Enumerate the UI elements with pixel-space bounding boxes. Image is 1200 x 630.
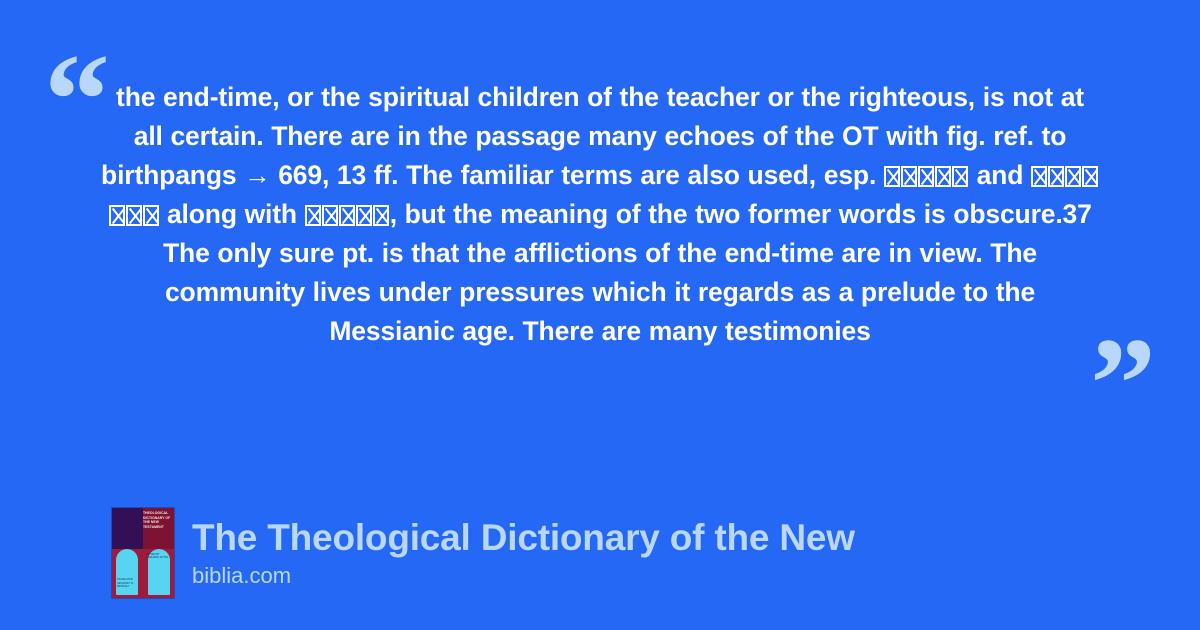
footer: THEOLOGICAL DICTIONARY OF THE NEW TESTAM… [112, 508, 1162, 598]
book-cover-thumbnail: THEOLOGICAL DICTIONARY OF THE NEW TESTAM… [112, 508, 174, 598]
missing-glyph-box [305, 205, 321, 226]
missing-glyph-box [901, 166, 917, 187]
footer-text-group: The Theological Dictionary of the New bi… [192, 516, 855, 590]
cover-title-text: THEOLOGICAL DICTIONARY OF THE NEW TESTAM… [143, 511, 172, 529]
cover-editor-text: EDITED BY GERHARD KITTEL [146, 553, 170, 560]
source-domain: biblia.com [192, 562, 855, 590]
missing-glyph-box [109, 205, 125, 226]
missing-glyph-box [935, 166, 951, 187]
missing-glyph-box [339, 205, 355, 226]
missing-glyph-box [1082, 166, 1098, 187]
cover-translator-text: TRANSLATOR GEOFFREY W. BROMILEY [117, 578, 137, 588]
missing-glyph-box [1048, 166, 1064, 187]
book-title: The Theological Dictionary of the New [192, 516, 855, 560]
cover-panel-top-left [112, 508, 143, 549]
quote-text: the end-time, or the spiritual children … [100, 78, 1100, 351]
missing-glyph-box [373, 205, 389, 226]
missing-glyph-box [126, 205, 142, 226]
missing-glyph-box [1031, 166, 1047, 187]
quote-block: the end-time, or the spiritual children … [100, 78, 1100, 351]
missing-glyph-box [884, 166, 900, 187]
missing-glyph-box [322, 205, 338, 226]
missing-glyph-box [356, 205, 372, 226]
missing-glyph-box [918, 166, 934, 187]
quote-card: “ ” the end-time, or the spiritual child… [0, 0, 1200, 630]
missing-glyph-box [143, 205, 159, 226]
missing-glyph-box [952, 166, 968, 187]
cover-arch-left [116, 549, 138, 595]
missing-glyph-box [1065, 166, 1081, 187]
